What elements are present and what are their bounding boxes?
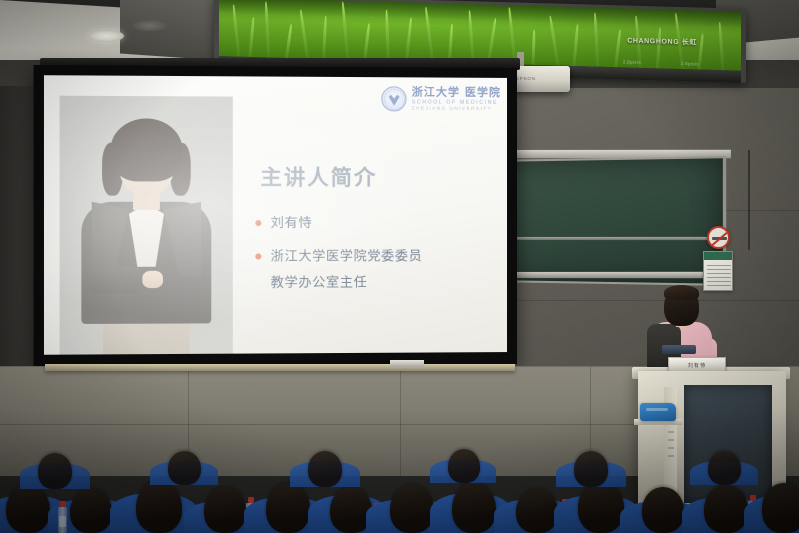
ceiling-downlight	[88, 30, 124, 42]
blackboard-mid-rail	[488, 237, 726, 240]
bullet-dot-icon	[255, 220, 261, 226]
list-item: 浙江大学医学院党委委员	[255, 247, 488, 267]
slide-bullet-list: 刘有恃 浙江大学医学院党委委员 教学办公室主任	[255, 214, 488, 293]
screen-bottom-ledge	[45, 364, 515, 371]
logo-english-line2: ZHEJIANG UNIVERSITY	[412, 107, 501, 112]
university-logo: 浙江大学 医学院 SCHOOL OF MEDICINE ZHEJIANG UNI…	[381, 86, 501, 112]
speaker-portrait-photo	[60, 96, 233, 355]
bullet-dot-icon	[255, 253, 261, 259]
slide-title: 主讲人简介	[260, 161, 377, 191]
podium-microphone	[662, 345, 696, 354]
audience	[0, 408, 799, 533]
ceiling-downlight-off	[133, 20, 166, 31]
blackboard-chalk-rail	[486, 272, 729, 278]
display-osd-right: 2.8pts/s	[681, 61, 699, 67]
portrait-projection-wash	[60, 96, 233, 355]
bullet-text: 刘有恃	[271, 214, 313, 234]
wall-pipe	[748, 150, 750, 250]
ledge-object	[390, 360, 424, 367]
logo-chinese-name: 浙江大学 医学院	[412, 87, 501, 99]
bullet-text-continuation: 教学办公室主任	[271, 273, 488, 293]
projector-brand-label: EPSON	[516, 76, 536, 81]
display-osd-left: 2.8pts/s	[623, 59, 641, 65]
speaker-hair-front	[664, 285, 699, 300]
list-item: 刘有恃	[255, 214, 488, 234]
notice-board	[703, 251, 733, 291]
lecture-hall-scene: CHANGHONG 长虹 2.8pts/s 2.8pts/s EPSON 浙江大…	[0, 0, 799, 533]
placard-text: 刘有恃	[688, 362, 707, 369]
blackboard	[488, 156, 726, 286]
zhejiang-university-emblem-icon	[381, 86, 406, 111]
bullet-text: 浙江大学医学院党委委员	[271, 247, 423, 267]
no-smoking-icon	[707, 226, 730, 249]
projection-screen: 浙江大学 医学院 SCHOOL OF MEDICINE ZHEJIANG UNI…	[34, 65, 517, 367]
display-brand-logo: CHANGHONG 长虹	[627, 36, 697, 48]
presentation-slide: 浙江大学 医学院 SCHOOL OF MEDICINE ZHEJIANG UNI…	[44, 75, 507, 355]
notice-board-header	[704, 252, 732, 260]
